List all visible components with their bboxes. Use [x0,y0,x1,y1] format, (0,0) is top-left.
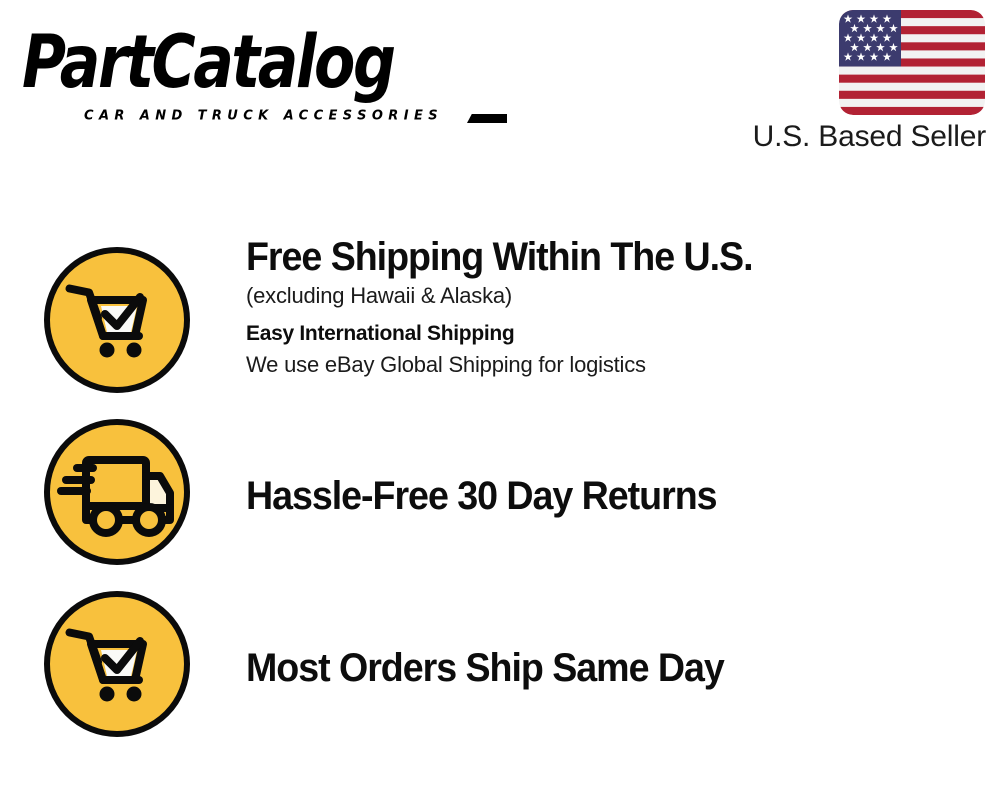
badge-same-day-ship [41,588,193,740]
feature-title: Most Orders Ship Same Day [246,645,955,691]
feature-list: Free Shipping Within The U.S. (excluding… [0,228,1000,760]
feature-secondary-subtitle: We use eBay Global Shipping for logistic… [246,349,1000,381]
feature-secondary-title: Easy International Shipping [246,318,1000,349]
feature-subtitle: (excluding Hawaii & Alaska) [246,280,1000,312]
badge-free-shipping [41,244,193,396]
feature-row: Hassle-Free 30 Day Returns [0,416,1000,588]
brand-wordmark: PartCatalog [22,22,478,102]
feature-title: Hassle-Free 30 Day Returns [246,473,955,519]
us-flag-icon [839,10,985,115]
badge-returns [41,416,193,568]
us-based-seller-label: U.S. Based Seller [753,118,986,156]
cart-check-icon [41,588,193,740]
cart-check-icon [41,244,193,396]
feature-text-block: Free Shipping Within The U.S. (excluding… [193,228,1000,381]
delivery-truck-icon [41,416,193,568]
brand-tagline: CAR AND TRUCK ACCESSORIES [84,108,443,124]
feature-text-block: Most Orders Ship Same Day [193,588,1000,691]
brand-logo[interactable]: PartCatalog CAR AND TRUCK ACCESSORIES [22,22,492,112]
page-header: PartCatalog CAR AND TRUCK ACCESSORIES [0,0,1000,170]
feature-title: Free Shipping Within The U.S. [246,234,955,280]
feature-text-block: Hassle-Free 30 Day Returns [193,416,1000,519]
brand-underline-accent [467,114,507,123]
feature-row: Most Orders Ship Same Day [0,588,1000,760]
feature-row: Free Shipping Within The U.S. (excluding… [0,228,1000,416]
us-flag-badge [839,10,985,115]
